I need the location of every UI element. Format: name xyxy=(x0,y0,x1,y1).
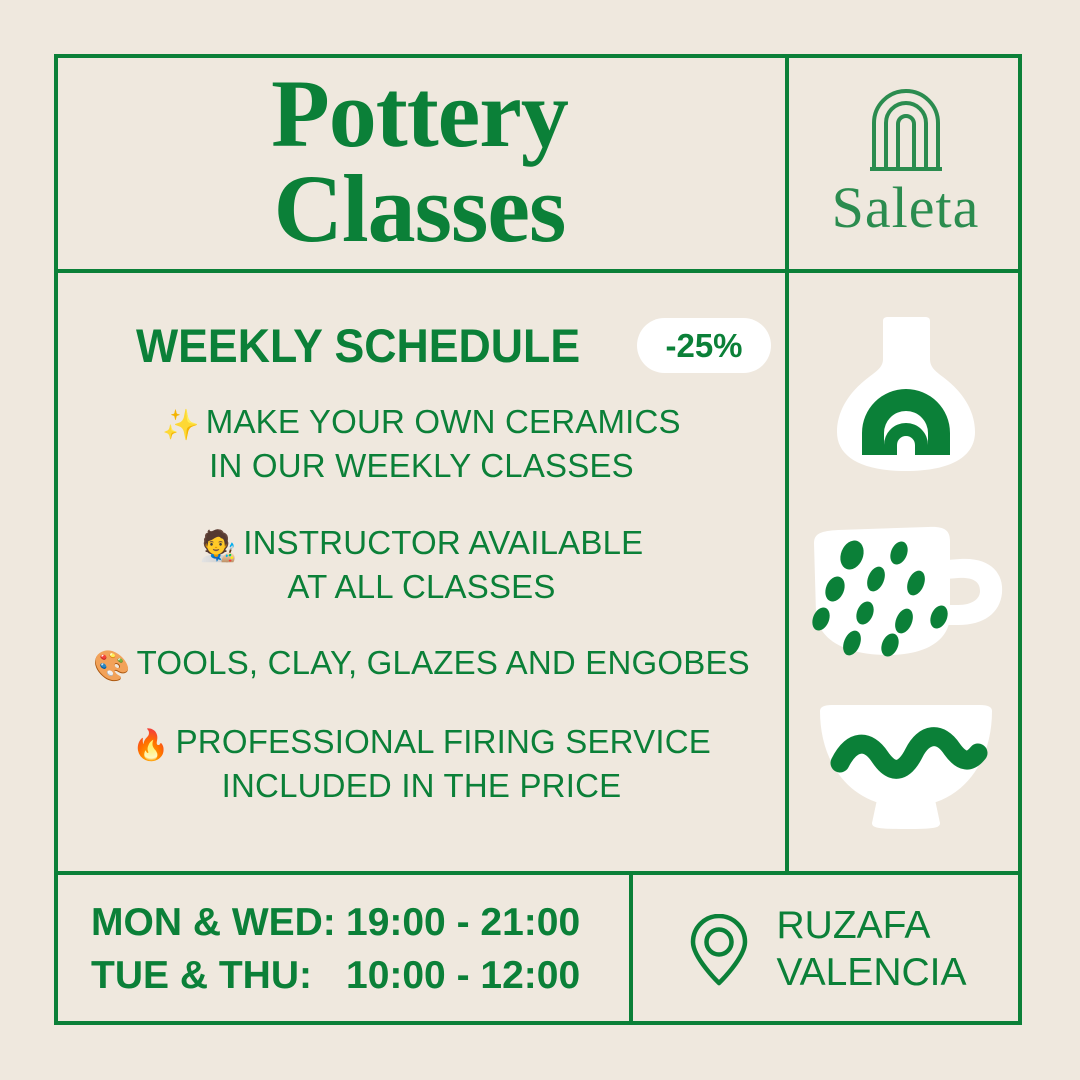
feature-item: 🧑‍🎨INSTRUCTOR AVAILABLE AT ALL CLASSES xyxy=(200,522,644,609)
palette-icon: 🎨 xyxy=(93,649,131,684)
feature-list: ✨MAKE YOUR OWN CERAMICS IN OUR WEEKLY CL… xyxy=(58,401,785,807)
artist-icon: 🧑‍🎨 xyxy=(200,529,238,564)
bowl-with-wave-motif xyxy=(818,703,994,831)
schedule-time: 19:00 - 21:00 xyxy=(346,897,596,950)
location-text: RUZAFA VALENCIA xyxy=(776,903,966,997)
section-title: WEEKLY SCHEDULE xyxy=(136,318,580,373)
page-title: Pottery Classes xyxy=(54,54,785,269)
schedule-time: 10:00 - 12:00 xyxy=(346,950,596,1003)
discount-badge: -25% xyxy=(637,318,770,373)
schedule-block: MON & WED: 19:00 - 21:00 TUE & THU: 10:0… xyxy=(58,875,629,1025)
section-header: WEEKLY SCHEDULE -25% xyxy=(136,318,771,373)
map-pin-icon xyxy=(688,914,750,986)
schedule-row: MON & WED: 19:00 - 21:00 xyxy=(91,897,596,950)
location-line-2: VALENCIA xyxy=(776,950,966,997)
feature-line-1: TOOLS, CLAY, GLAZES AND ENGOBES xyxy=(137,644,750,681)
feature-item: ✨MAKE YOUR OWN CERAMICS IN OUR WEEKLY CL… xyxy=(162,401,681,488)
fire-icon: 🔥 xyxy=(132,728,170,763)
poster-canvas: Pottery Classes Saleta WEEKLY SCHEDULE -… xyxy=(0,0,1080,1080)
location-line-1: RUZAFA xyxy=(776,903,966,950)
vase-with-rainbow-motif xyxy=(821,315,991,475)
mug-with-dashes-motif xyxy=(808,521,1004,659)
schedule-days: MON & WED: xyxy=(91,897,346,950)
feature-line-2: INCLUDED IN THE PRICE xyxy=(132,765,711,807)
brand-block: Saleta xyxy=(789,54,1022,269)
sparkles-icon: ✨ xyxy=(162,408,200,443)
schedule-row: TUE & THU: 10:00 - 12:00 xyxy=(91,950,596,1003)
brand-name: Saleta xyxy=(832,179,980,237)
schedule-days: TUE & THU: xyxy=(91,950,346,1003)
location-block: RUZAFA VALENCIA xyxy=(633,875,1022,1025)
feature-line-1: INSTRUCTOR AVAILABLE xyxy=(243,524,643,561)
feature-item: 🎨TOOLS, CLAY, GLAZES AND ENGOBES xyxy=(93,642,750,686)
title-line-2: Classes xyxy=(274,162,566,256)
arch-logo-icon xyxy=(860,87,952,173)
feature-line-1: MAKE YOUR OWN CERAMICS xyxy=(206,403,681,440)
feature-item: 🔥PROFESSIONAL FIRING SERVICE INCLUDED IN… xyxy=(132,721,711,808)
feature-line-2: IN OUR WEEKLY CLASSES xyxy=(162,445,681,487)
title-line-1: Pottery xyxy=(271,67,568,161)
feature-line-1: PROFESSIONAL FIRING SERVICE xyxy=(176,723,711,760)
illustration-column xyxy=(789,273,1022,871)
feature-line-2: AT ALL CLASSES xyxy=(200,566,644,608)
main-content: WEEKLY SCHEDULE -25% ✨MAKE YOUR OWN CERA… xyxy=(58,273,785,871)
